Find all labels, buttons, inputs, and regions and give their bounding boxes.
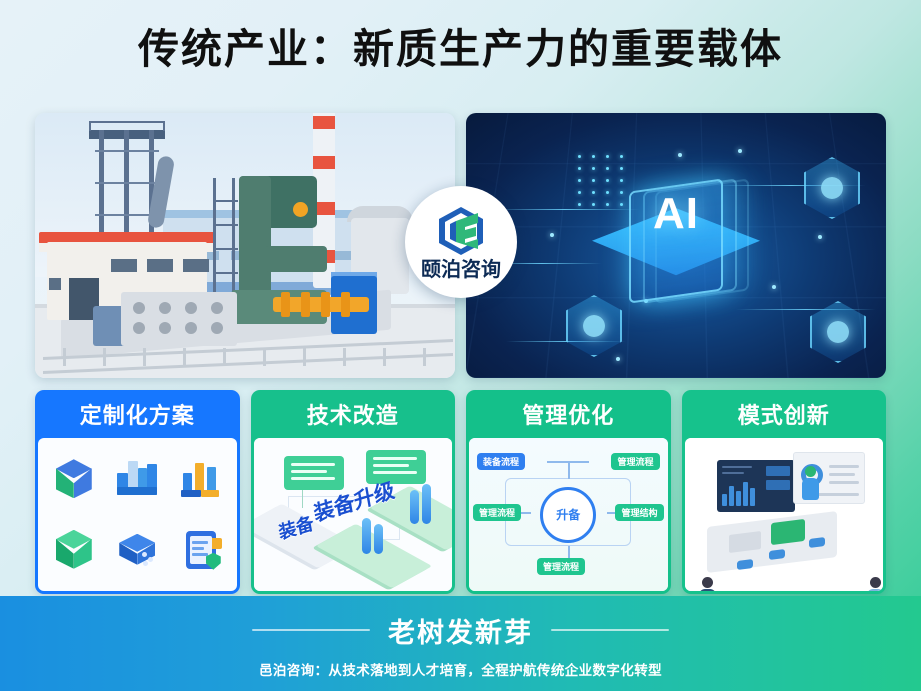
workpiece-bar: [273, 297, 369, 312]
card-title: 定制化方案: [35, 390, 240, 438]
factory-illustration: [35, 113, 455, 378]
dot-cube-node: [574, 151, 630, 209]
note-card-left: [284, 456, 344, 490]
dashboard-screen: [717, 460, 795, 512]
management-flow-diagram: 装备流程 管理流程 管理流程 管理结构 管理流程 升备: [469, 438, 668, 591]
upgrade-pillar: [410, 490, 419, 524]
brand-logo-icon: [434, 204, 488, 258]
upgrade-pillar: [362, 518, 371, 554]
isometric-upgrade-illustration: 装备升级 装备: [254, 438, 453, 591]
document-shield-icon: [179, 528, 223, 572]
house-window: [49, 278, 61, 290]
card-body: [38, 438, 237, 591]
flow-node-bottom: 管理流程: [537, 558, 585, 575]
card-title: 模式创新: [682, 390, 887, 438]
card-technical-upgrade[interactable]: 技术改造: [251, 390, 456, 594]
digital-operations-illustration: [685, 438, 884, 591]
rail-track: [43, 346, 453, 368]
card-title: 管理优化: [466, 390, 671, 438]
house-window: [111, 259, 137, 272]
card-body: [685, 438, 884, 591]
flow-node-right: 管理结构: [615, 504, 663, 521]
ai-technology-illustration: AI: [466, 113, 886, 378]
house-window: [183, 259, 209, 272]
console-button: [737, 559, 753, 570]
house-window: [147, 259, 173, 272]
card-title: 技术改造: [251, 390, 456, 438]
logo-badge[interactable]: 颐泊咨询: [405, 186, 517, 298]
green-panel: [771, 519, 805, 545]
card-body: 装备升级 装备: [254, 438, 453, 591]
flow-center-node: 升备: [540, 487, 596, 543]
console-button: [809, 537, 825, 548]
page-title-wrap: 传统产业：新质生产力的重要载体: [0, 26, 921, 73]
slide-root: 传统产业：新质生产力的重要载体: [0, 0, 921, 691]
keypad: [729, 531, 761, 553]
card-customized-solution[interactable]: 定制化方案: [35, 390, 240, 594]
flow-node-top-right: 管理流程: [611, 453, 659, 470]
flow-node-top-left: 装备流程: [477, 453, 525, 470]
upgrade-pillar: [374, 524, 383, 554]
ai-scene: AI: [466, 113, 886, 378]
divider-left: [252, 629, 370, 631]
icon-grid: [38, 438, 237, 591]
green-cube-icon: [52, 528, 96, 572]
blue-green-cube-icon: [52, 457, 96, 501]
data-box-icon: [115, 528, 159, 572]
footer-headline-row: 老树发新芽: [252, 611, 669, 650]
upgrade-pillar: [422, 484, 431, 524]
card-body: 装备流程 管理流程 管理流程 管理结构 管理流程 升备: [469, 438, 668, 591]
card-management-optimization[interactable]: 管理优化 装备流程 管理流程 管理流程 管理结构 管理流程 升备: [466, 390, 671, 594]
ai-badge-text: AI: [653, 189, 699, 239]
footer-headline: 老树发新芽: [388, 611, 533, 650]
machine-block: [121, 292, 237, 346]
divider-right: [551, 629, 669, 631]
footer-band: 老树发新芽 邑泊咨询：从技术落地到人才培育，全程护航传统企业数字化转型: [0, 596, 921, 691]
console-button: [769, 549, 785, 560]
footer-subtitle: 邑泊咨询：从技术落地到人才培育，全程护航传统企业数字化转型: [259, 659, 662, 679]
flow-node-left: 管理流程: [473, 504, 521, 521]
page-title: 传统产业：新质生产力的重要载体: [0, 26, 921, 73]
bar-chart-icon: [179, 457, 223, 501]
buildings-icon: [115, 457, 159, 501]
card-model-innovation[interactable]: 模式创新: [682, 390, 887, 594]
user-avatar-icon: [801, 466, 821, 500]
factory-scene: [35, 113, 455, 378]
feature-cards: 定制化方案: [35, 390, 886, 594]
logo-text: 颐泊咨询: [421, 260, 501, 280]
